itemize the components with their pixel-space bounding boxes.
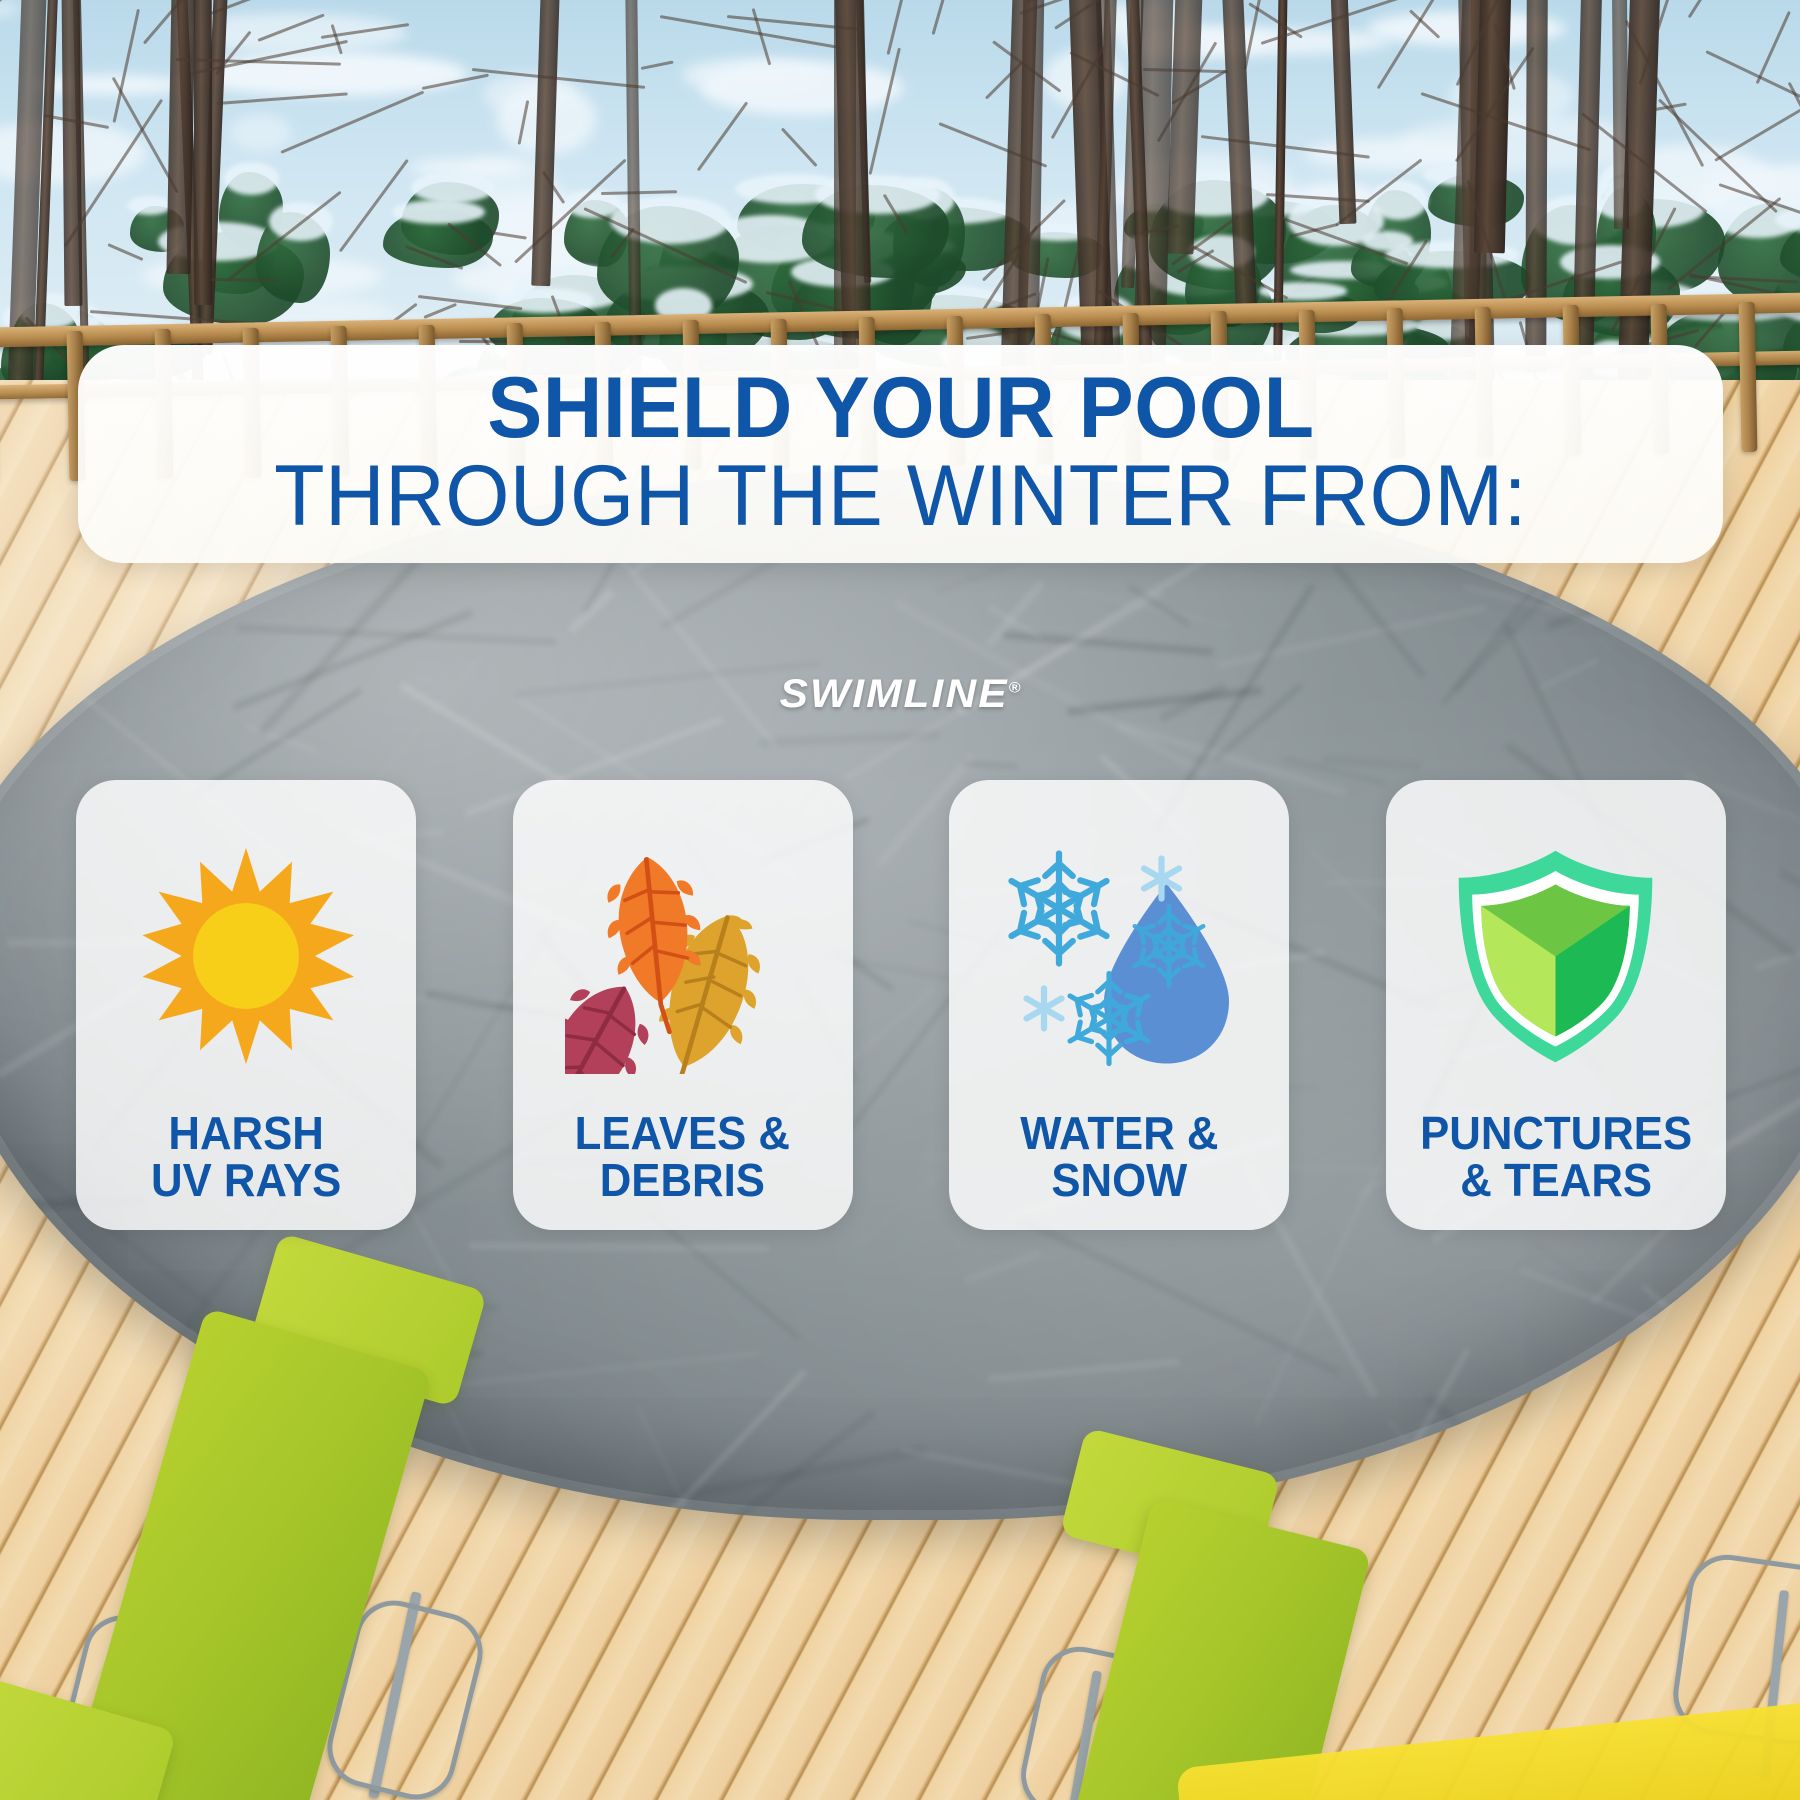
swimline-logo: SWIMLINE® <box>0 672 1800 717</box>
tree-branch <box>641 61 674 71</box>
tree-branch <box>931 0 980 35</box>
tree-branch <box>697 102 748 172</box>
tree-branch <box>601 190 677 195</box>
tree-branch <box>280 91 424 154</box>
snowflake-droplet-icon <box>969 806 1269 1106</box>
tree-branch <box>868 48 900 175</box>
feature-card-harsh-uv-rays[interactable]: HARSH UV RAYS <box>76 780 416 1230</box>
railing-post <box>1739 302 1758 452</box>
label-line-1: PUNCTURES <box>1420 1107 1692 1159</box>
tree-branch <box>1714 99 1800 161</box>
feature-card-leaves-debris[interactable]: LEAVES & DEBRIS <box>513 780 853 1230</box>
tree-branch <box>1755 11 1790 84</box>
label-line-1: WATER & <box>1020 1107 1218 1159</box>
snow-patch <box>1400 115 1649 170</box>
sun-icon <box>96 806 396 1106</box>
feature-card-label-punctures-tears: PUNCTURES & TEARS <box>1420 1110 1692 1204</box>
feature-card-label-leaves-debris: LEAVES & DEBRIS <box>575 1110 790 1204</box>
promo-image: SWIMLINE® SHIELD YOUR POOL THROUGH THE W… <box>0 0 1800 1800</box>
snow-on-shrub <box>224 162 279 194</box>
snow-patch <box>230 114 290 152</box>
snow-patch <box>700 61 902 115</box>
label-line-2: & TEARS <box>1420 1157 1692 1204</box>
tree-branch <box>660 15 837 48</box>
label-line-2: UV RAYS <box>151 1157 341 1204</box>
label-line-2: DEBRIS <box>575 1157 790 1204</box>
feature-card-punctures-tears[interactable]: PUNCTURES & TEARS <box>1386 780 1726 1230</box>
feature-card-list: HARSH UV RAYS <box>76 780 1726 1230</box>
headline-line-1: SHIELD YOUR POOL <box>487 367 1314 450</box>
railing-top-bar <box>0 292 1800 348</box>
feature-card-label-harsh-uv-rays: HARSH UV RAYS <box>151 1110 341 1204</box>
feature-card-water-snow[interactable]: WATER & SNOW <box>949 780 1289 1230</box>
headline-banner: SHIELD YOUR POOL THROUGH THE WINTER FROM… <box>78 345 1723 563</box>
snow-patch <box>189 52 468 96</box>
label-line-1: LEAVES & <box>575 1107 790 1159</box>
headline-line-2: THROUGH THE WINTER FROM: <box>274 453 1527 541</box>
label-line-1: HARSH <box>168 1107 323 1159</box>
feature-card-label-water-snow: WATER & SNOW <box>1020 1110 1218 1204</box>
snow-on-shrub <box>815 175 940 214</box>
snow-patch <box>0 0 20 18</box>
tree-branch <box>781 127 818 166</box>
label-line-2: SNOW <box>1020 1157 1218 1204</box>
swimline-logo-text: SWIMLINE <box>780 672 1009 716</box>
tree-trunk <box>166 0 195 274</box>
tree-branch <box>1688 0 1772 19</box>
tree-trunk <box>1612 0 1629 229</box>
snow-on-shrub <box>411 172 495 202</box>
shield-icon <box>1406 806 1706 1106</box>
falling-leaves-icon <box>533 806 833 1106</box>
registered-trademark-symbol: ® <box>1009 680 1021 697</box>
lounge-chair-left <box>0 1390 720 1800</box>
tree-branch <box>1706 50 1800 112</box>
